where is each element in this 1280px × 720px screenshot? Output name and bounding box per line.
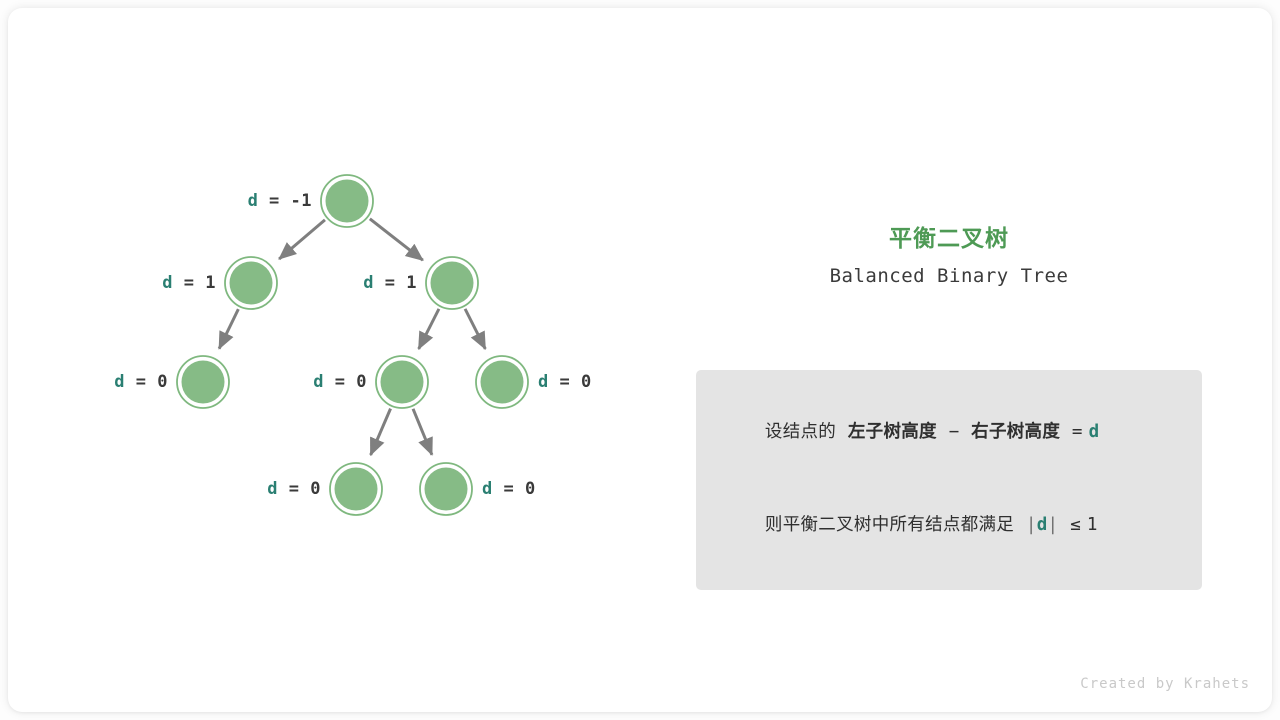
line2-value: 1 [1087,515,1098,535]
balance-value: = 0 [549,372,592,392]
node-balance-label: d = 0 [267,479,321,499]
balance-variable: d [482,479,493,499]
tree-node [330,463,382,515]
balance-variable: d [114,372,125,392]
binary-tree-graphic [0,0,1280,720]
credit-text: Created by Krahets [1080,676,1250,692]
tree-edge [413,409,432,455]
balance-value: = 0 [125,372,168,392]
balance-value: = 0 [493,479,536,499]
node-balance-label: d = 0 [482,479,536,499]
node-balance-label: d = 1 [162,273,216,293]
node-circle [230,262,273,305]
balance-variable: d [313,372,324,392]
node-circle [481,361,524,404]
definition-line-1: 设结点的 左子树高度 − 右子树高度 = d [718,386,1180,479]
balance-value: = -1 [258,191,312,211]
tree-node [225,257,277,309]
line2-operator: ≤ [1070,515,1081,535]
tree-edges [219,219,485,455]
node-balance-label: d = -1 [248,191,312,211]
panel-title-chinese: 平衡二叉树 [696,224,1202,254]
balance-value: = 1 [374,273,417,293]
node-circle [182,361,225,404]
node-circle [431,262,474,305]
node-circle [381,361,424,404]
line1-equals: = [1072,422,1083,442]
tree-node [376,356,428,408]
balance-variable: d [248,191,259,211]
line2-bar-open: | [1026,515,1037,535]
definition-box: 设结点的 左子树高度 − 右子树高度 = d 则平衡二叉树中所有结点都满足 |d… [696,370,1202,590]
line2-variable: d [1037,515,1048,535]
balance-value: = 0 [324,372,367,392]
tree-node [321,175,373,227]
tree-node [177,356,229,408]
balance-variable: d [363,273,374,293]
tree-edge [465,309,485,349]
tree-edge [419,309,439,349]
line1-prefix: 设结点的 [765,422,836,442]
node-balance-label: d = 1 [363,273,417,293]
balance-variable: d [538,372,549,392]
info-panel: 平衡二叉树 Balanced Binary Tree 设结点的 左子树高度 − … [696,224,1202,289]
node-balance-label: d = 0 [538,372,592,392]
tree-node [420,463,472,515]
panel-title-english: Balanced Binary Tree [696,263,1202,289]
balance-variable: d [267,479,278,499]
line1-term-right: 右子树高度 [971,422,1060,442]
tree-edge [279,220,325,259]
node-circle [326,180,369,223]
line1-minus: − [949,422,960,442]
definition-line-2: 则平衡二叉树中所有结点都满足 |d| ≤ 1 [718,479,1180,572]
node-balance-label: d = 0 [114,372,168,392]
node-circle [425,468,468,511]
node-balance-label: d = 0 [313,372,367,392]
balance-variable: d [162,273,173,293]
line2-bar-close: | [1048,515,1059,535]
node-circle [335,468,378,511]
tree-node [426,257,478,309]
tree-edge [370,219,423,260]
balance-value: = 0 [278,479,321,499]
tree-edge [371,409,391,455]
line2-prefix: 则平衡二叉树中所有结点都满足 [765,515,1014,535]
line1-term-left: 左子树高度 [848,422,937,442]
diagram-canvas: d = -1d = 1d = 1d = 0d = 0d = 0d = 0d = … [0,0,1280,720]
tree-nodes [177,175,528,515]
balance-value: = 1 [173,273,216,293]
tree-edge [219,309,238,349]
tree-node [476,356,528,408]
line1-variable: d [1089,422,1100,442]
